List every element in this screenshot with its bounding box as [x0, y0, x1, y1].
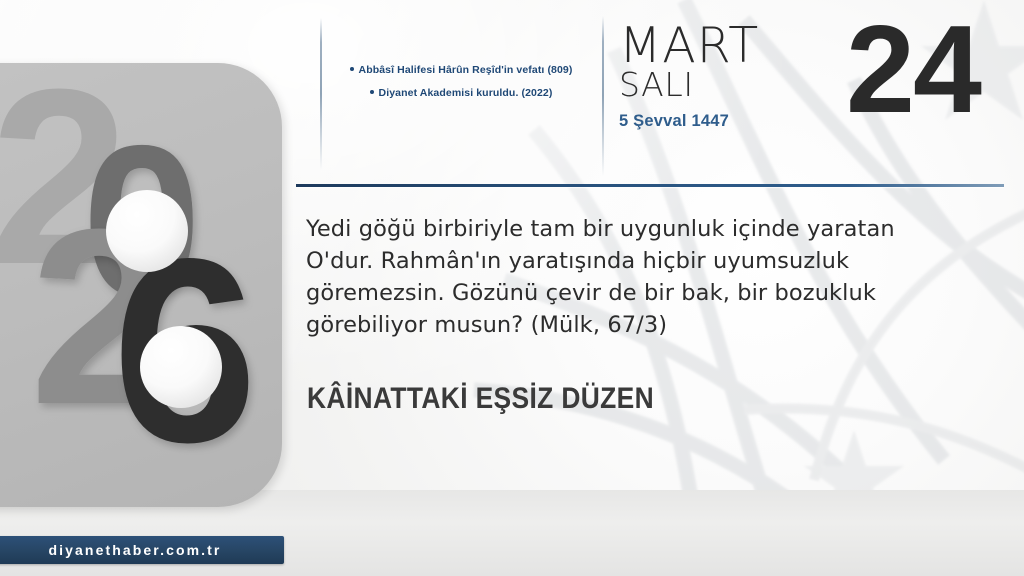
- calendar-page: 2 0 2 6 Abbâsî Halifesi Hârûn Reşîd'in v…: [0, 0, 1024, 576]
- page-title: KÂİNATTAKİ EŞSİZ DÜZEN: [307, 382, 654, 416]
- event-text: Abbâsî Halifesi Hârûn Reşîd'in vefatı (8…: [359, 64, 573, 76]
- historical-events-list: Abbâsî Halifesi Hârûn Reşîd'in vefatı (8…: [330, 63, 592, 109]
- site-url-text: diyanethaber.com.tr: [49, 542, 222, 558]
- day-number: 24: [846, 8, 1016, 132]
- year-logo-panel: 2 0 2 6: [0, 63, 282, 507]
- year-2026-logo-icon: 2 0 2 6: [0, 63, 282, 507]
- divider-vertical-right: [602, 16, 604, 176]
- event-text: Diyanet Akademisi kuruldu. (2022): [379, 87, 553, 99]
- divider-horizontal: [296, 184, 1004, 187]
- month-name: MART: [619, 22, 829, 69]
- bullet-icon: [350, 67, 354, 71]
- site-url-bar[interactable]: diyanethaber.com.tr: [0, 536, 284, 564]
- list-item: Abbâsî Halifesi Hârûn Reşîd'in vefatı (8…: [330, 63, 592, 77]
- list-item: Diyanet Akademisi kuruldu. (2022): [330, 86, 592, 100]
- divider-vertical-left: [320, 18, 322, 170]
- bullet-icon: [370, 90, 374, 94]
- date-column: MART SALI 5 Şevval 1447: [619, 22, 829, 131]
- quran-verse-text: Yedi göğü birbiriyle tam bir uygunluk iç…: [306, 214, 906, 342]
- hijri-date: 5 Şevval 1447: [619, 112, 829, 131]
